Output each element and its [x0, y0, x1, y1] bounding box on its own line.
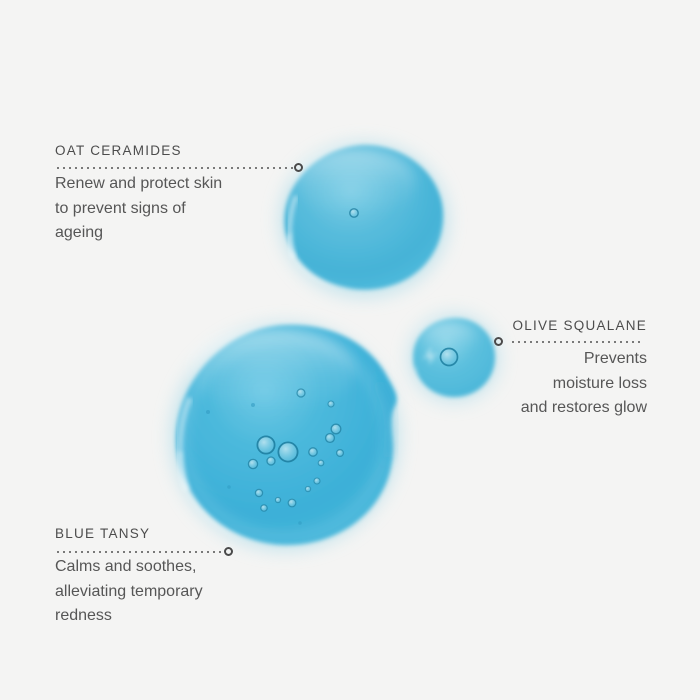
droplet-oat-ceramides: [280, 143, 448, 297]
callout-heading-blue-tansy: BLUE TANSY: [55, 526, 203, 542]
leader-line-olive-squalane: [510, 341, 643, 343]
leader-line-oat-ceramides: [55, 167, 295, 169]
ingredient-callout-graphic: OAT CERAMIDES Renew and protect skin to …: [0, 0, 700, 700]
callout-body-oat-ceramides: Renew and protect skin to prevent signs …: [55, 172, 222, 245]
leader-endpoint-icon-olive-squalane: [494, 337, 503, 346]
callout-blue-tansy: BLUE TANSY Calms and soothes, alleviatin…: [55, 526, 203, 628]
callout-body-olive-squalane: Prevents moisture loss and restores glow: [385, 347, 647, 420]
leader-endpoint-icon-oat-ceramides: [294, 163, 303, 172]
callout-olive-squalane: OLIVE SQUALANE Prevents moisture loss an…: [385, 318, 647, 420]
callout-heading-oat-ceramides: OAT CERAMIDES: [55, 143, 222, 159]
bubble: [350, 209, 358, 217]
leader-endpoint-icon-blue-tansy: [224, 547, 233, 556]
callout-heading-olive-squalane: OLIVE SQUALANE: [385, 318, 647, 334]
callout-body-blue-tansy: Calms and soothes, alleviating temporary…: [55, 555, 203, 628]
droplet-blue-tansy: [171, 324, 399, 550]
callout-oat-ceramides: OAT CERAMIDES Renew and protect skin to …: [55, 143, 222, 245]
leader-line-blue-tansy: [55, 551, 225, 553]
